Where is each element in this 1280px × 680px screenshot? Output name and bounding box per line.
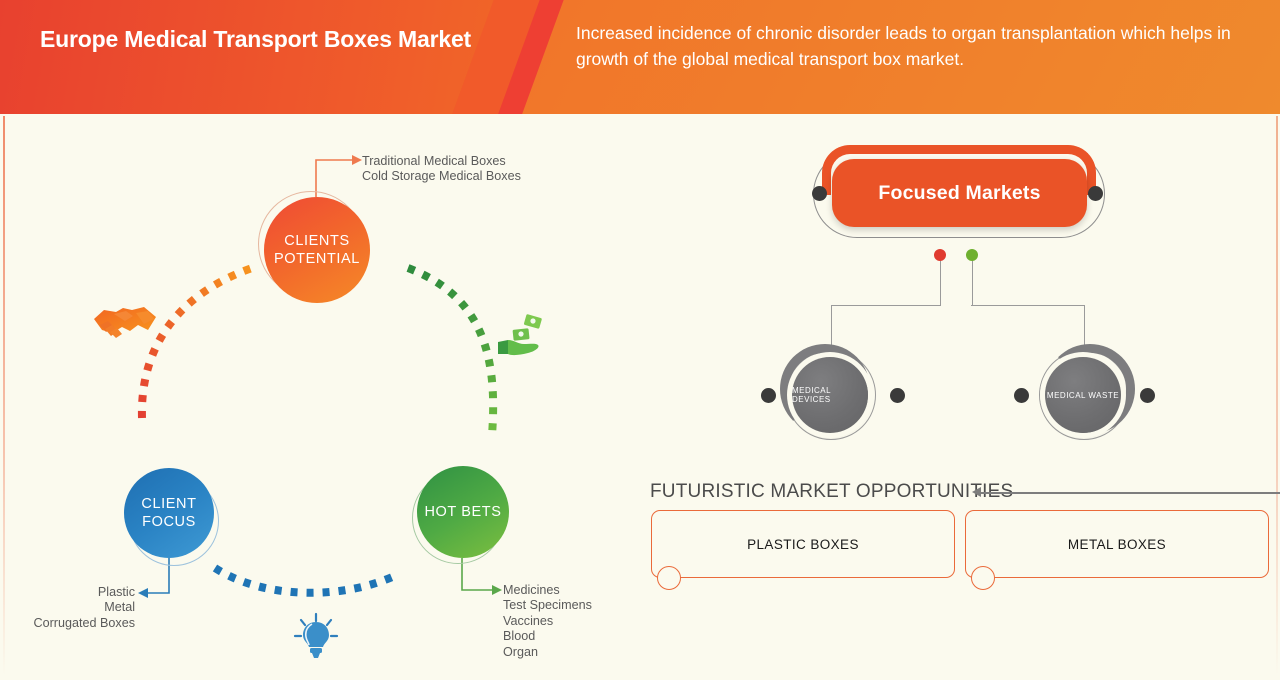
node-clients-potential[interactable]: CLIENTS POTENTIAL xyxy=(264,197,370,303)
opportunity-box-plastic-label: PLASTIC BOXES xyxy=(747,537,859,552)
node-client-focus[interactable]: CLIENT FOCUS xyxy=(124,468,214,558)
circle-medical-devices[interactable]: MEDICAL DEVICES xyxy=(792,357,868,433)
stem-medical-waste xyxy=(972,260,974,306)
futuristic-line xyxy=(980,492,1280,494)
client-focus-items: Plastic Metal Corrugated Boxes xyxy=(0,585,135,631)
money-hand-icon xyxy=(494,310,544,360)
elbow-h-left xyxy=(831,305,941,306)
medical-devices-left-dot xyxy=(761,388,776,403)
focused-markets-box[interactable]: Focused Markets xyxy=(832,159,1087,227)
futuristic-arrow-icon xyxy=(972,487,981,497)
node-clients-potential-label: CLIENTS POTENTIAL xyxy=(264,232,370,268)
opportunity-box-metal-label: METAL BOXES xyxy=(1068,537,1166,552)
infographic-canvas: Europe Medical Transport Boxes Market In… xyxy=(0,0,1280,680)
lightbulb-icon xyxy=(293,612,339,662)
focused-markets-left-dot xyxy=(812,186,827,201)
page-title: Europe Medical Transport Boxes Market xyxy=(40,24,480,55)
market-pin-medical-devices[interactable] xyxy=(934,249,946,261)
elbow-v-left xyxy=(831,305,832,350)
market-pin-medical-waste[interactable] xyxy=(966,249,978,261)
medical-waste-right-dot xyxy=(1140,388,1155,403)
opportunity-box-metal-dot xyxy=(971,566,995,590)
opportunity-box-plastic-dot xyxy=(657,566,681,590)
elbow-h-right xyxy=(971,305,1085,306)
futuristic-title: FUTURISTIC MARKET OPPORTUNITIES xyxy=(650,481,1013,503)
focused-markets-label: Focused Markets xyxy=(878,182,1040,205)
medical-devices-right-dot xyxy=(890,388,905,403)
handshake-icon xyxy=(92,297,158,349)
circle-medical-devices-label: MEDICAL DEVICES xyxy=(792,386,868,404)
medical-waste-left-dot xyxy=(1014,388,1029,403)
opportunity-box-metal[interactable]: METAL BOXES xyxy=(965,510,1269,578)
stem-medical-devices xyxy=(940,260,942,306)
clients-potential-items: Traditional Medical Boxes Cold Storage M… xyxy=(362,154,521,185)
header-subtitle: Increased incidence of chronic disorder … xyxy=(576,20,1236,72)
canvas-right-border xyxy=(1276,116,1278,676)
focused-markets-right-dot xyxy=(1088,186,1103,201)
circle-medical-waste[interactable]: MEDICAL WASTE xyxy=(1045,357,1121,433)
opportunity-box-plastic[interactable]: PLASTIC BOXES xyxy=(651,510,955,578)
node-hot-bets[interactable]: HOT BETS xyxy=(417,466,509,558)
node-client-focus-label: CLIENT FOCUS xyxy=(124,495,214,531)
node-hot-bets-label: HOT BETS xyxy=(424,503,501,521)
circle-medical-waste-label: MEDICAL WASTE xyxy=(1047,391,1119,400)
hot-bets-items: Medicines Test Specimens Vaccines Blood … xyxy=(503,583,592,660)
